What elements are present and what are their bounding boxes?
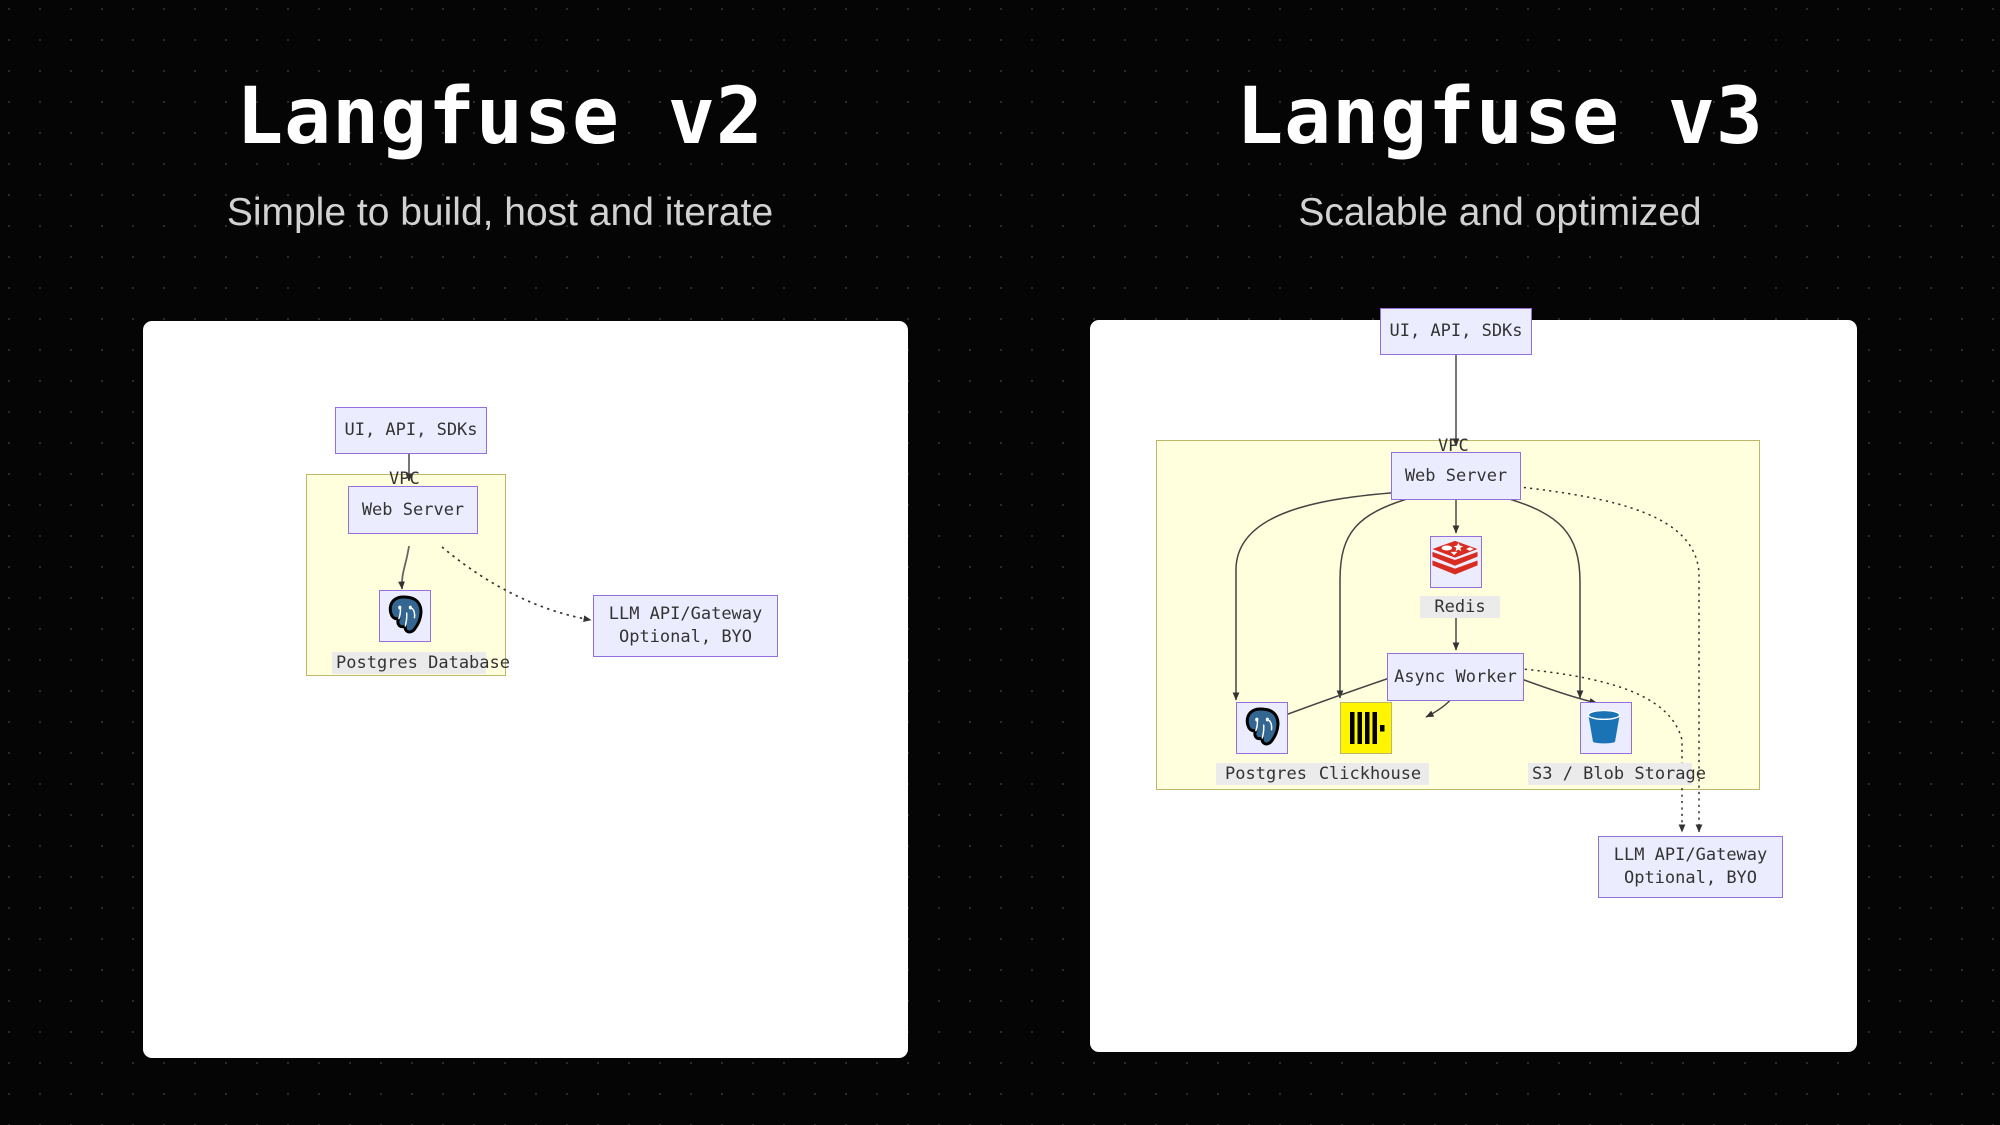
node-postgres-caption-v2: Postgres Database [332,652,486,674]
node-postgres-caption-v3: Postgres [1216,763,1316,785]
node-s3-caption-v3: S3 / Blob Storage [1528,763,1692,785]
diagram-card-v3: VPC [1090,320,1857,1052]
node-clickhouse-v3[interactable] [1340,702,1392,754]
edge-webserver-to-postgres [402,546,409,589]
clickhouse-bars-icon [1341,703,1391,753]
node-redis-v3[interactable] [1430,536,1482,588]
s3-bucket-icon [1581,703,1627,749]
node-llm-gateway-v3[interactable]: LLM API/Gateway Optional, BYO [1598,836,1783,898]
page-title-v2: Langfuse v2 [0,78,1000,156]
postgres-elephant-icon [380,591,426,637]
panel-langfuse-v3: Langfuse v3 Scalable and optimized VPC [1000,0,2000,1125]
page-title-v3: Langfuse v3 [1000,78,2000,156]
node-client-v3[interactable]: UI, API, SDKs [1380,308,1532,355]
diagram-card-v2: VPC UI, API, SDKs Web Server [143,321,908,1058]
node-llm-gateway-v2[interactable]: LLM API/Gateway Optional, BYO [593,595,778,657]
node-client-v2[interactable]: UI, API, SDKs [335,407,487,454]
page-subtitle-v2: Simple to build, host and iterate [0,193,1000,232]
edge-webserver-to-postgres-v3 [1236,492,1403,700]
panel-langfuse-v2: Langfuse v2 Simple to build, host and it… [0,0,1000,1125]
architecture-diagram-v3: VPC [1090,320,1857,1052]
postgres-elephant-icon [1237,703,1283,749]
architecture-diagram-v2: VPC UI, API, SDKs Web Server [143,321,908,1058]
edge-layer-v2 [143,321,908,1058]
page-subtitle-v3: Scalable and optimized [1000,193,2000,232]
redis-stack-icon [1431,537,1479,585]
node-web-server-v3[interactable]: Web Server [1391,452,1521,500]
node-postgres-v3[interactable] [1236,702,1288,754]
node-web-server-v2[interactable]: Web Server [348,486,478,534]
node-async-worker-v3[interactable]: Async Worker [1387,653,1524,701]
edge-webserver-to-llm [442,547,591,620]
node-s3-v3[interactable] [1580,702,1632,754]
node-postgres-v2[interactable] [379,590,431,642]
node-redis-caption-v3: Redis [1420,596,1500,618]
node-clickhouse-caption-v3: Clickhouse [1311,763,1429,785]
